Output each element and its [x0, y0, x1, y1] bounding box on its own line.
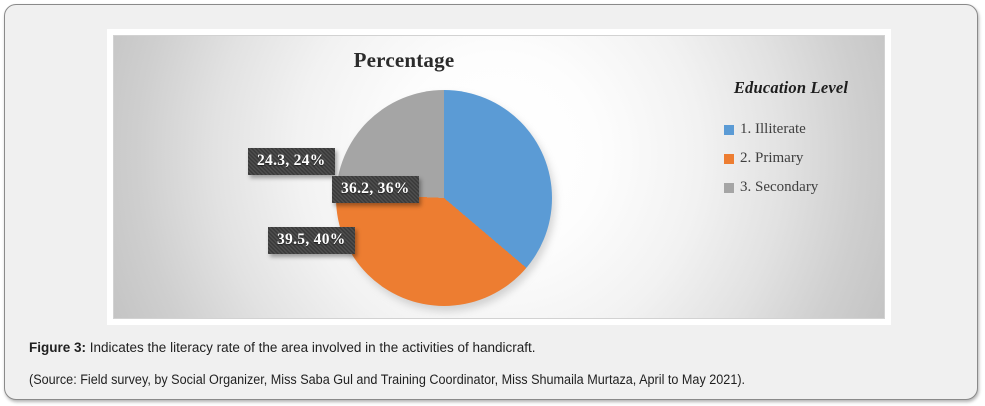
legend-item-primary[interactable]: 2. Primary	[702, 144, 880, 173]
legend-swatch-icon	[724, 154, 734, 164]
figure-caption-label: Figure 3:	[29, 340, 86, 355]
caption-block: Figure 3: Indicates the literacy rate of…	[29, 338, 957, 389]
legend-item-label: 2. Primary	[740, 150, 803, 167]
figure-card: Percentage 24.3, 24% 36.2, 36% 39.5, 40%…	[4, 4, 978, 400]
chart-plot-area: Percentage 24.3, 24% 36.2, 36% 39.5, 40%…	[113, 35, 885, 319]
legend-swatch-icon	[724, 183, 734, 193]
legend-swatch-icon	[724, 125, 734, 135]
chart-frame: Percentage 24.3, 24% 36.2, 36% 39.5, 40%…	[107, 29, 891, 325]
legend-item-secondary[interactable]: 3. Secondary	[702, 173, 880, 202]
data-label-secondary: 24.3, 24%	[248, 148, 335, 175]
legend-item-illiterate[interactable]: 1. Illiterate	[702, 115, 880, 144]
legend-item-label: 1. Illiterate	[740, 121, 806, 138]
legend-item-label: 3. Secondary	[740, 179, 818, 196]
data-label-primary: 39.5, 40%	[268, 227, 355, 254]
figure-source: (Source: Field survey, by Social Organiz…	[29, 370, 897, 390]
legend-title: Education Level	[702, 78, 880, 98]
figure-caption-text: Indicates the literacy rate of the area …	[86, 340, 536, 355]
legend-items: 1. Illiterate 2. Primary 3. Secondary	[702, 109, 880, 210]
data-label-illiterate: 36.2, 36%	[332, 176, 419, 203]
figure-caption: Figure 3: Indicates the literacy rate of…	[29, 338, 957, 358]
chart-title: Percentage	[114, 48, 884, 73]
chart-legend: Education Level 1. Illiterate 2. Primary…	[702, 78, 880, 210]
